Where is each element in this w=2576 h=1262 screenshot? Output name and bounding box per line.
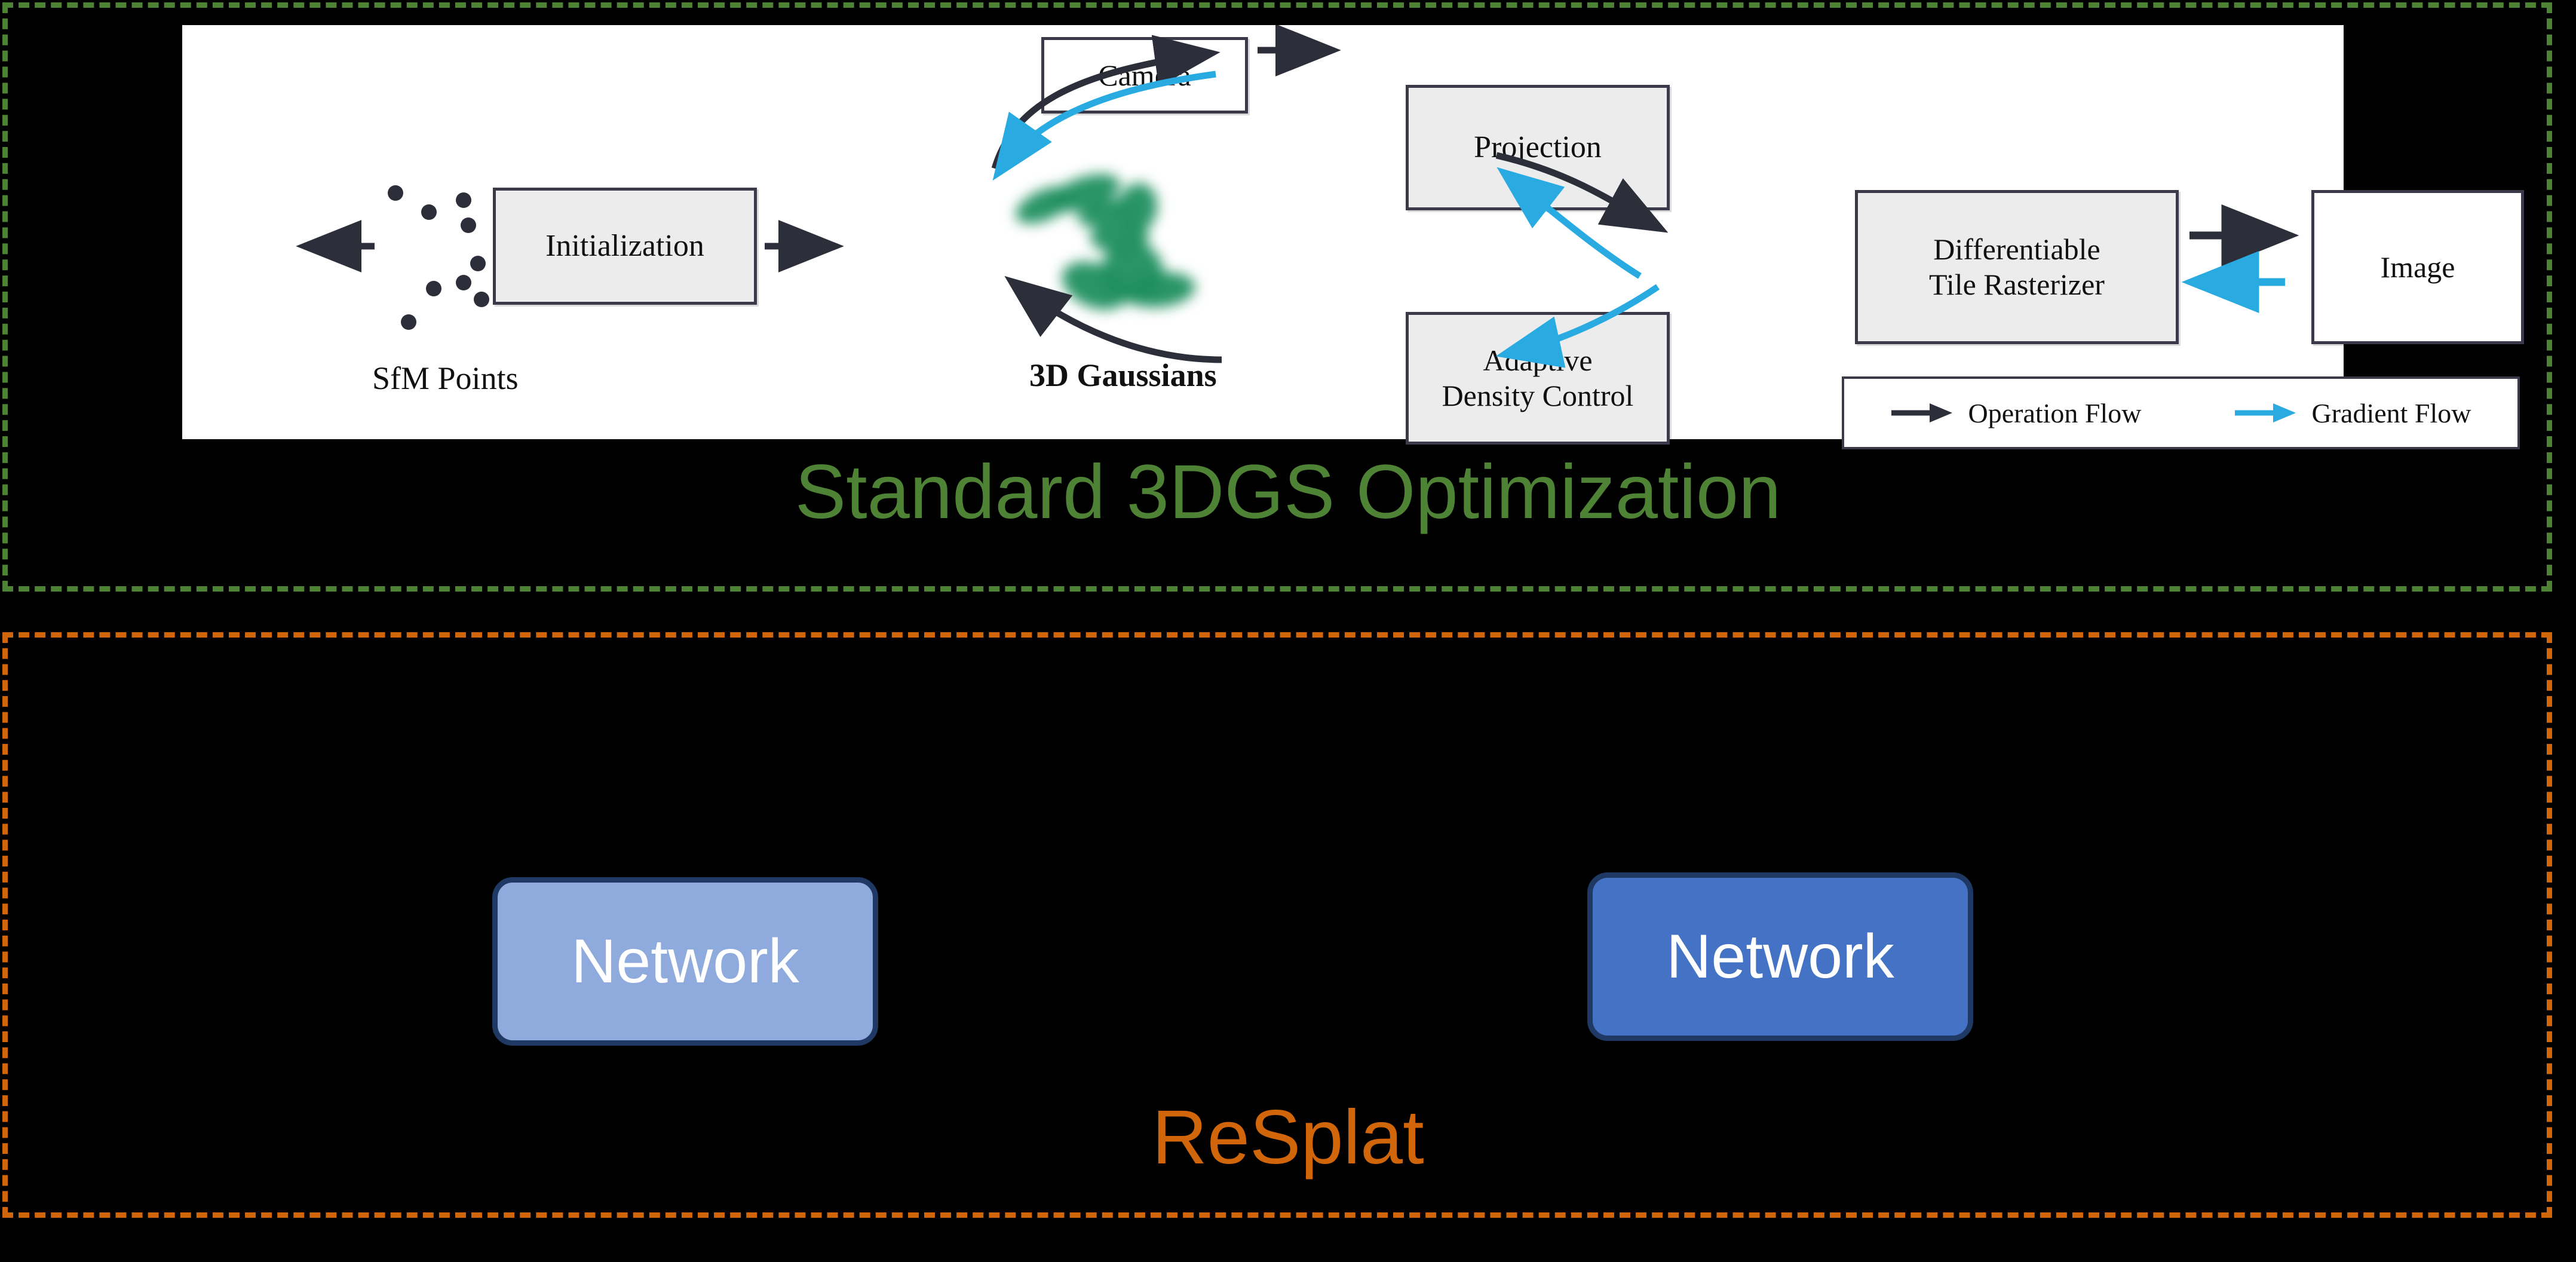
legend-label-operation-flow: Operation Flow (1968, 397, 2141, 429)
node-dtr-label-line2: Tile Rasterizer (1929, 267, 2105, 302)
sfm-point (421, 204, 437, 220)
legend-item-gradient-flow: Gradient Flow (2234, 397, 2471, 429)
legend-label-gradient-flow: Gradient Flow (2311, 397, 2471, 429)
network-box-left[interactable]: Network (492, 877, 878, 1046)
network-box-right-label: Network (1666, 921, 1894, 993)
figure-canvas: SfM Points Initialization 3D Gaussians C… (0, 0, 2576, 1262)
node-projection[interactable]: Projection (1406, 85, 1670, 210)
sfm-point (474, 292, 489, 307)
legend: Operation Flow Gradient Flow (1842, 376, 2520, 449)
operation-flow-arrow-icon (1890, 401, 1955, 425)
node-projection-label: Projection (1474, 129, 1602, 166)
gradient-flow-arrow-icon (2234, 401, 2298, 425)
sfm-point (401, 314, 416, 330)
sfm-point (388, 185, 403, 201)
resplat-section-title: ReSplat (0, 1093, 2576, 1181)
node-camera[interactable]: Camera (1041, 37, 1248, 114)
sfm-point (470, 256, 486, 271)
node-dtr-label-line1: Differentiable (1929, 232, 2105, 267)
pipeline-panel: SfM Points Initialization 3D Gaussians C… (182, 25, 2344, 439)
three-d-gaussians-blob (1007, 174, 1204, 342)
sfm-point (426, 281, 441, 296)
node-initialization[interactable]: Initialization (493, 188, 757, 305)
legend-item-operation-flow: Operation Flow (1890, 397, 2141, 429)
node-initialization-label: Initialization (545, 228, 704, 264)
node-adc-label-line2: Density Control (1442, 378, 1634, 413)
network-box-right[interactable]: Network (1587, 872, 1973, 1041)
node-camera-label: Camera (1098, 58, 1191, 93)
node-adaptive-density-control[interactable]: Adaptive Density Control (1406, 312, 1670, 445)
three-d-gaussians-caption: 3D Gaussians (1029, 357, 1217, 394)
sfm-point (461, 218, 476, 233)
node-adc-label-line1: Adaptive (1442, 343, 1634, 378)
standard-3dgs-section-title: Standard 3DGS Optimization (0, 448, 2576, 536)
node-image[interactable]: Image (2311, 190, 2524, 344)
sfm-point (456, 192, 471, 208)
node-differentiable-tile-rasterizer[interactable]: Differentiable Tile Rasterizer (1855, 190, 2179, 344)
network-box-left-label: Network (571, 926, 799, 997)
node-image-label: Image (2381, 250, 2455, 285)
sfm-point (456, 275, 471, 290)
sfm-points-caption: SfM Points (372, 360, 519, 397)
